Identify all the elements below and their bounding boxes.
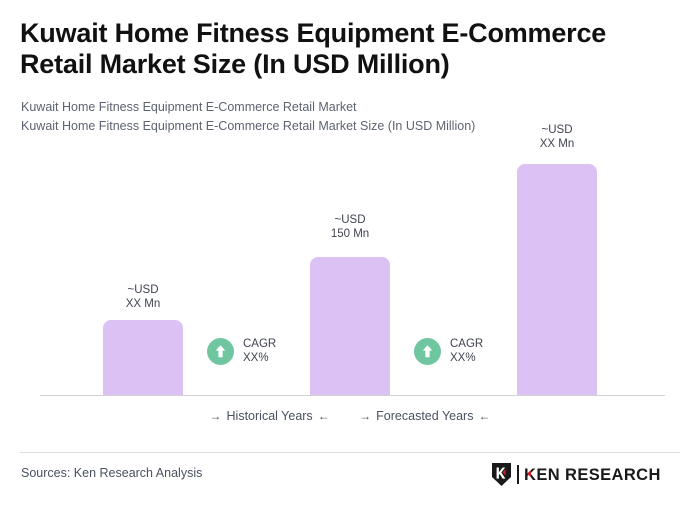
chart-page: Kuwait Home Fitness Equipment E-Commerce… <box>0 0 700 520</box>
arrow-right-icon: → <box>359 409 371 423</box>
bar-value-label-2: ~USD 150 Mn <box>310 213 390 242</box>
arrow-right-icon: → <box>210 409 222 423</box>
cagr-badge-forecast: CAGR XX% <box>414 337 483 366</box>
bar-3[interactable] <box>517 164 597 395</box>
ken-research-shield-icon <box>491 462 512 487</box>
chart-baseline <box>40 395 665 396</box>
cagr-badge-historical: CAGR XX% <box>207 337 276 366</box>
ken-research-wordmark: KEN RESEARCH <box>524 465 674 484</box>
chart-subtitle-line-1: Kuwait Home Fitness Equipment E-Commerce… <box>21 98 551 117</box>
chart-plot-area: ~USD XX Mn CAGR XX% ~USD 150 Mn <box>0 120 700 396</box>
bar-value-label-1: ~USD XX Mn <box>103 283 183 312</box>
legend-forecasted-years: →Forecasted Years← <box>359 409 490 423</box>
bar-value-label-1-line-2: XX Mn <box>103 297 183 311</box>
arrow-up-icon <box>414 338 441 365</box>
cagr-badge-forecast-line-2: XX% <box>450 351 483 365</box>
sources-text: Sources: Ken Research Analysis <box>21 466 202 480</box>
logo-divider <box>517 465 519 484</box>
page-title: Kuwait Home Fitness Equipment E-Commerce… <box>20 18 680 81</box>
legend-historical-years: →Historical Years← <box>210 409 330 423</box>
legend-forecasted-years-label: Forecasted Years <box>376 409 473 423</box>
bar-2[interactable] <box>310 257 390 395</box>
ken-research-logo: KEN RESEARCH <box>491 462 674 487</box>
arrow-up-icon <box>207 338 234 365</box>
bar-1[interactable] <box>103 320 183 395</box>
cagr-badge-forecast-text: CAGR XX% <box>450 337 483 366</box>
cagr-badge-historical-line-1: CAGR <box>243 338 276 350</box>
bar-value-label-2-line-1: ~USD <box>335 214 366 226</box>
bar-value-label-3: ~USD XX Mn <box>517 123 597 152</box>
bar-value-label-2-line-2: 150 Mn <box>310 227 390 241</box>
year-range-legend: →Historical Years← →Forecasted Years← <box>0 409 700 423</box>
bar-value-label-3-line-1: ~USD <box>542 124 573 136</box>
cagr-badge-historical-text: CAGR XX% <box>243 337 276 366</box>
svg-text:KEN RESEARCH: KEN RESEARCH <box>524 466 661 484</box>
legend-historical-years-label: Historical Years <box>227 409 313 423</box>
arrow-left-icon: ← <box>478 409 490 423</box>
bar-value-label-1-line-1: ~USD <box>128 284 159 296</box>
arrow-left-icon: ← <box>318 409 330 423</box>
cagr-badge-forecast-line-1: CAGR <box>450 338 483 350</box>
cagr-badge-historical-line-2: XX% <box>243 351 276 365</box>
bar-value-label-3-line-2: XX Mn <box>517 137 597 151</box>
footer-divider <box>20 452 680 453</box>
